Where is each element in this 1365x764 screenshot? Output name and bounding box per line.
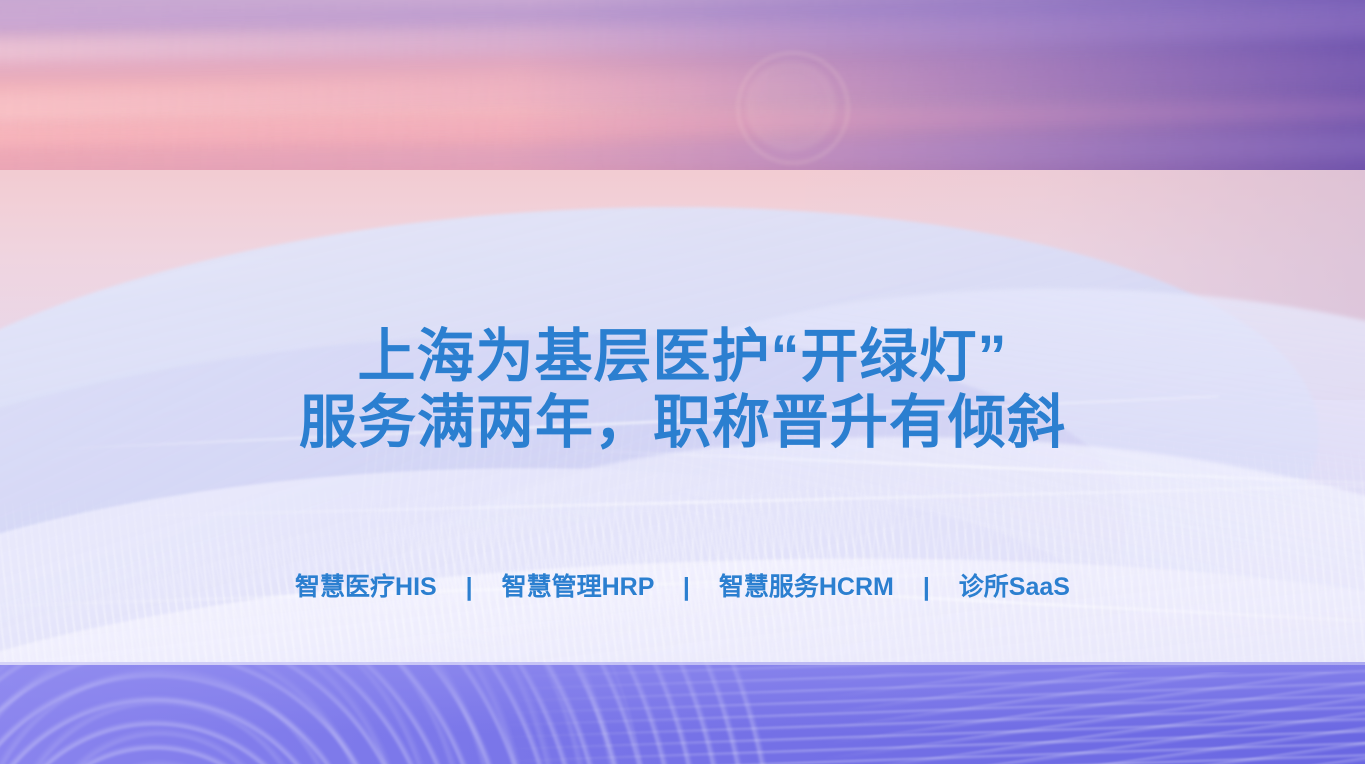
title-line-1: 上海为基层医护“开绿灯” <box>357 324 1007 389</box>
tagline-item-hrp[interactable]: 智慧管理HRP <box>502 573 654 601</box>
tagline-separator-1: | <box>444 570 495 604</box>
text-layer: 上海为基层医护“开绿灯” 服务满两年，职称晋升有倾斜 智慧医疗HIS | 智慧管… <box>0 0 1365 764</box>
poster-banner: 上海为基层医护“开绿灯” 服务满两年，职称晋升有倾斜 智慧医疗HIS | 智慧管… <box>0 0 1365 764</box>
product-tagline: 智慧医疗HIS | 智慧管理HRP | 智慧服务HCRM | 诊所SaaS <box>0 570 1365 604</box>
title-line-2: 服务满两年，职称晋升有倾斜 <box>0 390 1365 456</box>
tagline-item-his[interactable]: 智慧医疗HIS <box>295 573 437 601</box>
poster-title: 上海为基层医护“开绿灯” 服务满两年，职称晋升有倾斜 <box>0 324 1365 456</box>
tagline-separator-3: | <box>901 570 952 604</box>
tagline-item-hcrm[interactable]: 智慧服务HCRM <box>719 573 894 601</box>
tagline-separator-2: | <box>661 570 712 604</box>
tagline-item-saas[interactable]: 诊所SaaS <box>959 573 1070 601</box>
